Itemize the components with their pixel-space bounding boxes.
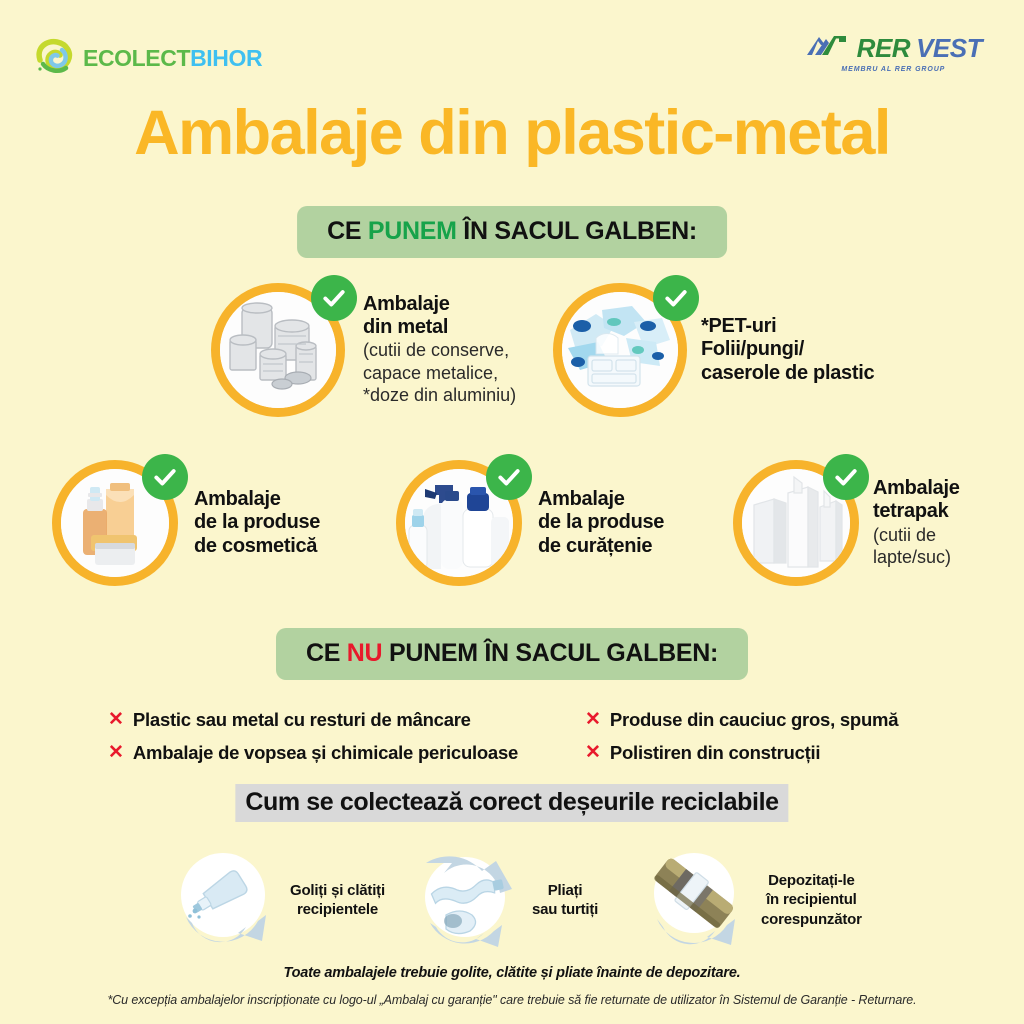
howto-step-3: Depozitați-le în recipientul corespunzăt…: [637, 845, 862, 955]
x-icon: ✕: [585, 741, 601, 765]
deposit-bundle-icon: [637, 845, 755, 955]
cosmetics-item-text: Ambalaje de la produse de cosmetică: [194, 488, 320, 558]
cosmetics-label-line1: Ambalaje: [194, 488, 281, 510]
accept-banner-highlight: PUNEM: [368, 217, 457, 245]
ecolect-word: ECOLECT: [83, 45, 190, 71]
bihor-word: BIHOR: [190, 45, 262, 71]
tetrapak-label-line1: Ambalaje: [873, 477, 960, 499]
accepted-item-metal: Ambalaje din metal (cutii de conserve, c…: [211, 283, 516, 417]
step1-line1: Goliți și clătiți: [290, 882, 385, 899]
howto-step-2: Pliați sau turtiți: [408, 845, 598, 955]
metal-item-text: Ambalaje din metal (cutii de conserve, c…: [363, 293, 516, 407]
list-item: ✕ Polistiren din construcții: [585, 741, 898, 765]
howto-heading: Cum se colectează corect deșeurile recic…: [235, 784, 788, 822]
x-icon: ✕: [108, 741, 124, 765]
cleaning-label-line2: de la produse: [538, 511, 664, 533]
check-icon: [142, 454, 188, 500]
step1-line2: recipientele: [297, 901, 378, 918]
list-item: ✕ Produse din cauciuc gros, spumă: [585, 708, 898, 732]
footer-note-secondary: *Cu excepția ambalajelor inscripționate …: [0, 993, 1024, 1007]
tetrapak-note-line1: (cutii de: [873, 525, 936, 545]
cleaning-label-line1: Ambalaje: [538, 488, 625, 510]
page-title: Ambalaje din plastic-metal: [0, 102, 1024, 165]
list-item: ✕ Ambalaje de vopsea și chimicale pericu…: [108, 741, 518, 765]
cleaning-spray-circle: [396, 460, 522, 586]
check-icon: [823, 454, 869, 500]
metal-label-line1: Ambalaje: [363, 293, 450, 315]
plastic-bottles-circle: [553, 283, 687, 417]
step3-line1: Depozitați-le: [768, 872, 855, 889]
infographic-page: ECOLECTBIHOR RER VEST MEMBRU AL RER GROU…: [0, 0, 1024, 1024]
x-icon: ✕: [108, 708, 124, 732]
pet-label-line1: *PET-uri: [701, 315, 776, 337]
rejected-list-left: ✕ Plastic sau metal cu resturi de mâncar…: [108, 708, 518, 774]
empty-rinse-bottle-icon: [166, 845, 284, 955]
tetrapak-label-line2: tetrapak: [873, 500, 948, 522]
rer-vest-logo: RER VEST MEMBRU AL RER GROUP: [805, 32, 982, 73]
howto-step-3-label: Depozitați-le în recipientul corespunzăt…: [761, 871, 862, 929]
tetrapak-item-text: Ambalaje tetrapak (cutii de lapte/suc): [873, 477, 960, 569]
metal-note-line1: (cutii de conserve,: [363, 340, 509, 360]
x-icon: ✕: [585, 708, 601, 732]
rer-arrow-icon: [805, 32, 851, 63]
rer-tagline: MEMBRU AL RER GROUP: [841, 66, 945, 73]
ecolect-bihor-wordmark: ECOLECTBIHOR: [83, 47, 262, 70]
step3-line2: în recipientul: [766, 891, 857, 908]
rejected-right-text-2: Polistiren din construcții: [610, 741, 820, 764]
cosmetics-label-line3: de cosmetică: [194, 535, 317, 557]
list-item: ✕ Plastic sau metal cu resturi de mâncar…: [108, 708, 518, 732]
reject-banner: CE NU PUNEM ÎN SACUL GALBEN:: [276, 628, 748, 680]
rer-word: RER: [857, 35, 910, 61]
rejected-list-right: ✕ Produse din cauciuc gros, spumă ✕ Poli…: [585, 708, 898, 774]
check-icon: [311, 275, 357, 321]
step3-line3: corespunzător: [761, 911, 862, 928]
step2-line1: Pliați: [548, 882, 583, 899]
howto-step-1: Goliți și clătiți recipientele: [166, 845, 385, 955]
pet-item-text: *PET-uri Folii/pungi/ caserole de plasti…: [701, 315, 874, 385]
accepted-item-cleaning: Ambalaje de la produse de curățenie: [396, 460, 664, 586]
flatten-bottle-icon: [408, 845, 526, 955]
rejected-right-text-1: Produse din cauciuc gros, spumă: [610, 708, 898, 731]
accepted-item-cosmetics: Ambalaje de la produse de cosmetică: [52, 460, 320, 586]
pet-label-line3: caserole de plastic: [701, 362, 874, 384]
vest-word: VEST: [916, 35, 982, 61]
cosmetics-label-line2: de la produse: [194, 511, 320, 533]
howto-step-1-label: Goliți și clătiți recipientele: [290, 881, 385, 919]
cleaning-label-line3: de curățenie: [538, 535, 652, 557]
accepted-item-pet: *PET-uri Folii/pungi/ caserole de plasti…: [553, 283, 874, 417]
metal-note-line2: capace metalice,: [363, 363, 498, 383]
accept-banner-pre: CE: [327, 217, 368, 245]
ecolect-bihor-logo: ECOLECTBIHOR: [34, 38, 262, 78]
accept-banner-post: ÎN SACUL GALBEN:: [457, 217, 697, 245]
rejected-left-text-2: Ambalaje de vopsea și chimicale periculo…: [133, 741, 518, 764]
accept-banner: CE PUNEM ÎN SACUL GALBEN:: [297, 206, 727, 258]
metal-label-line2: din metal: [363, 316, 448, 338]
rejected-left-text-1: Plastic sau metal cu resturi de mâncare: [133, 708, 471, 731]
tetrapak-circle: [733, 460, 859, 586]
cleaning-item-text: Ambalaje de la produse de curățenie: [538, 488, 664, 558]
reject-banner-post: PUNEM ÎN SACUL GALBEN:: [382, 639, 718, 667]
check-icon: [486, 454, 532, 500]
cosmetics-circle: [52, 460, 178, 586]
step2-line2: sau turtiți: [532, 901, 598, 918]
metal-note-line3: *doze din aluminiu): [363, 385, 516, 405]
check-icon: [653, 275, 699, 321]
accepted-item-tetrapak: Ambalaje tetrapak (cutii de lapte/suc): [733, 460, 960, 586]
footer-note-primary: Toate ambalajele trebuie golite, clătite…: [0, 965, 1024, 981]
reject-banner-pre: CE: [306, 639, 347, 667]
tetrapak-note-line2: lapte/suc): [873, 547, 951, 567]
reject-banner-highlight: NU: [347, 639, 383, 667]
ecolect-swirl-icon: [34, 38, 74, 78]
howto-step-2-label: Pliați sau turtiți: [532, 881, 598, 919]
metal-cans-circle: [211, 283, 345, 417]
pet-label-line2: Folii/pungi/: [701, 338, 804, 360]
